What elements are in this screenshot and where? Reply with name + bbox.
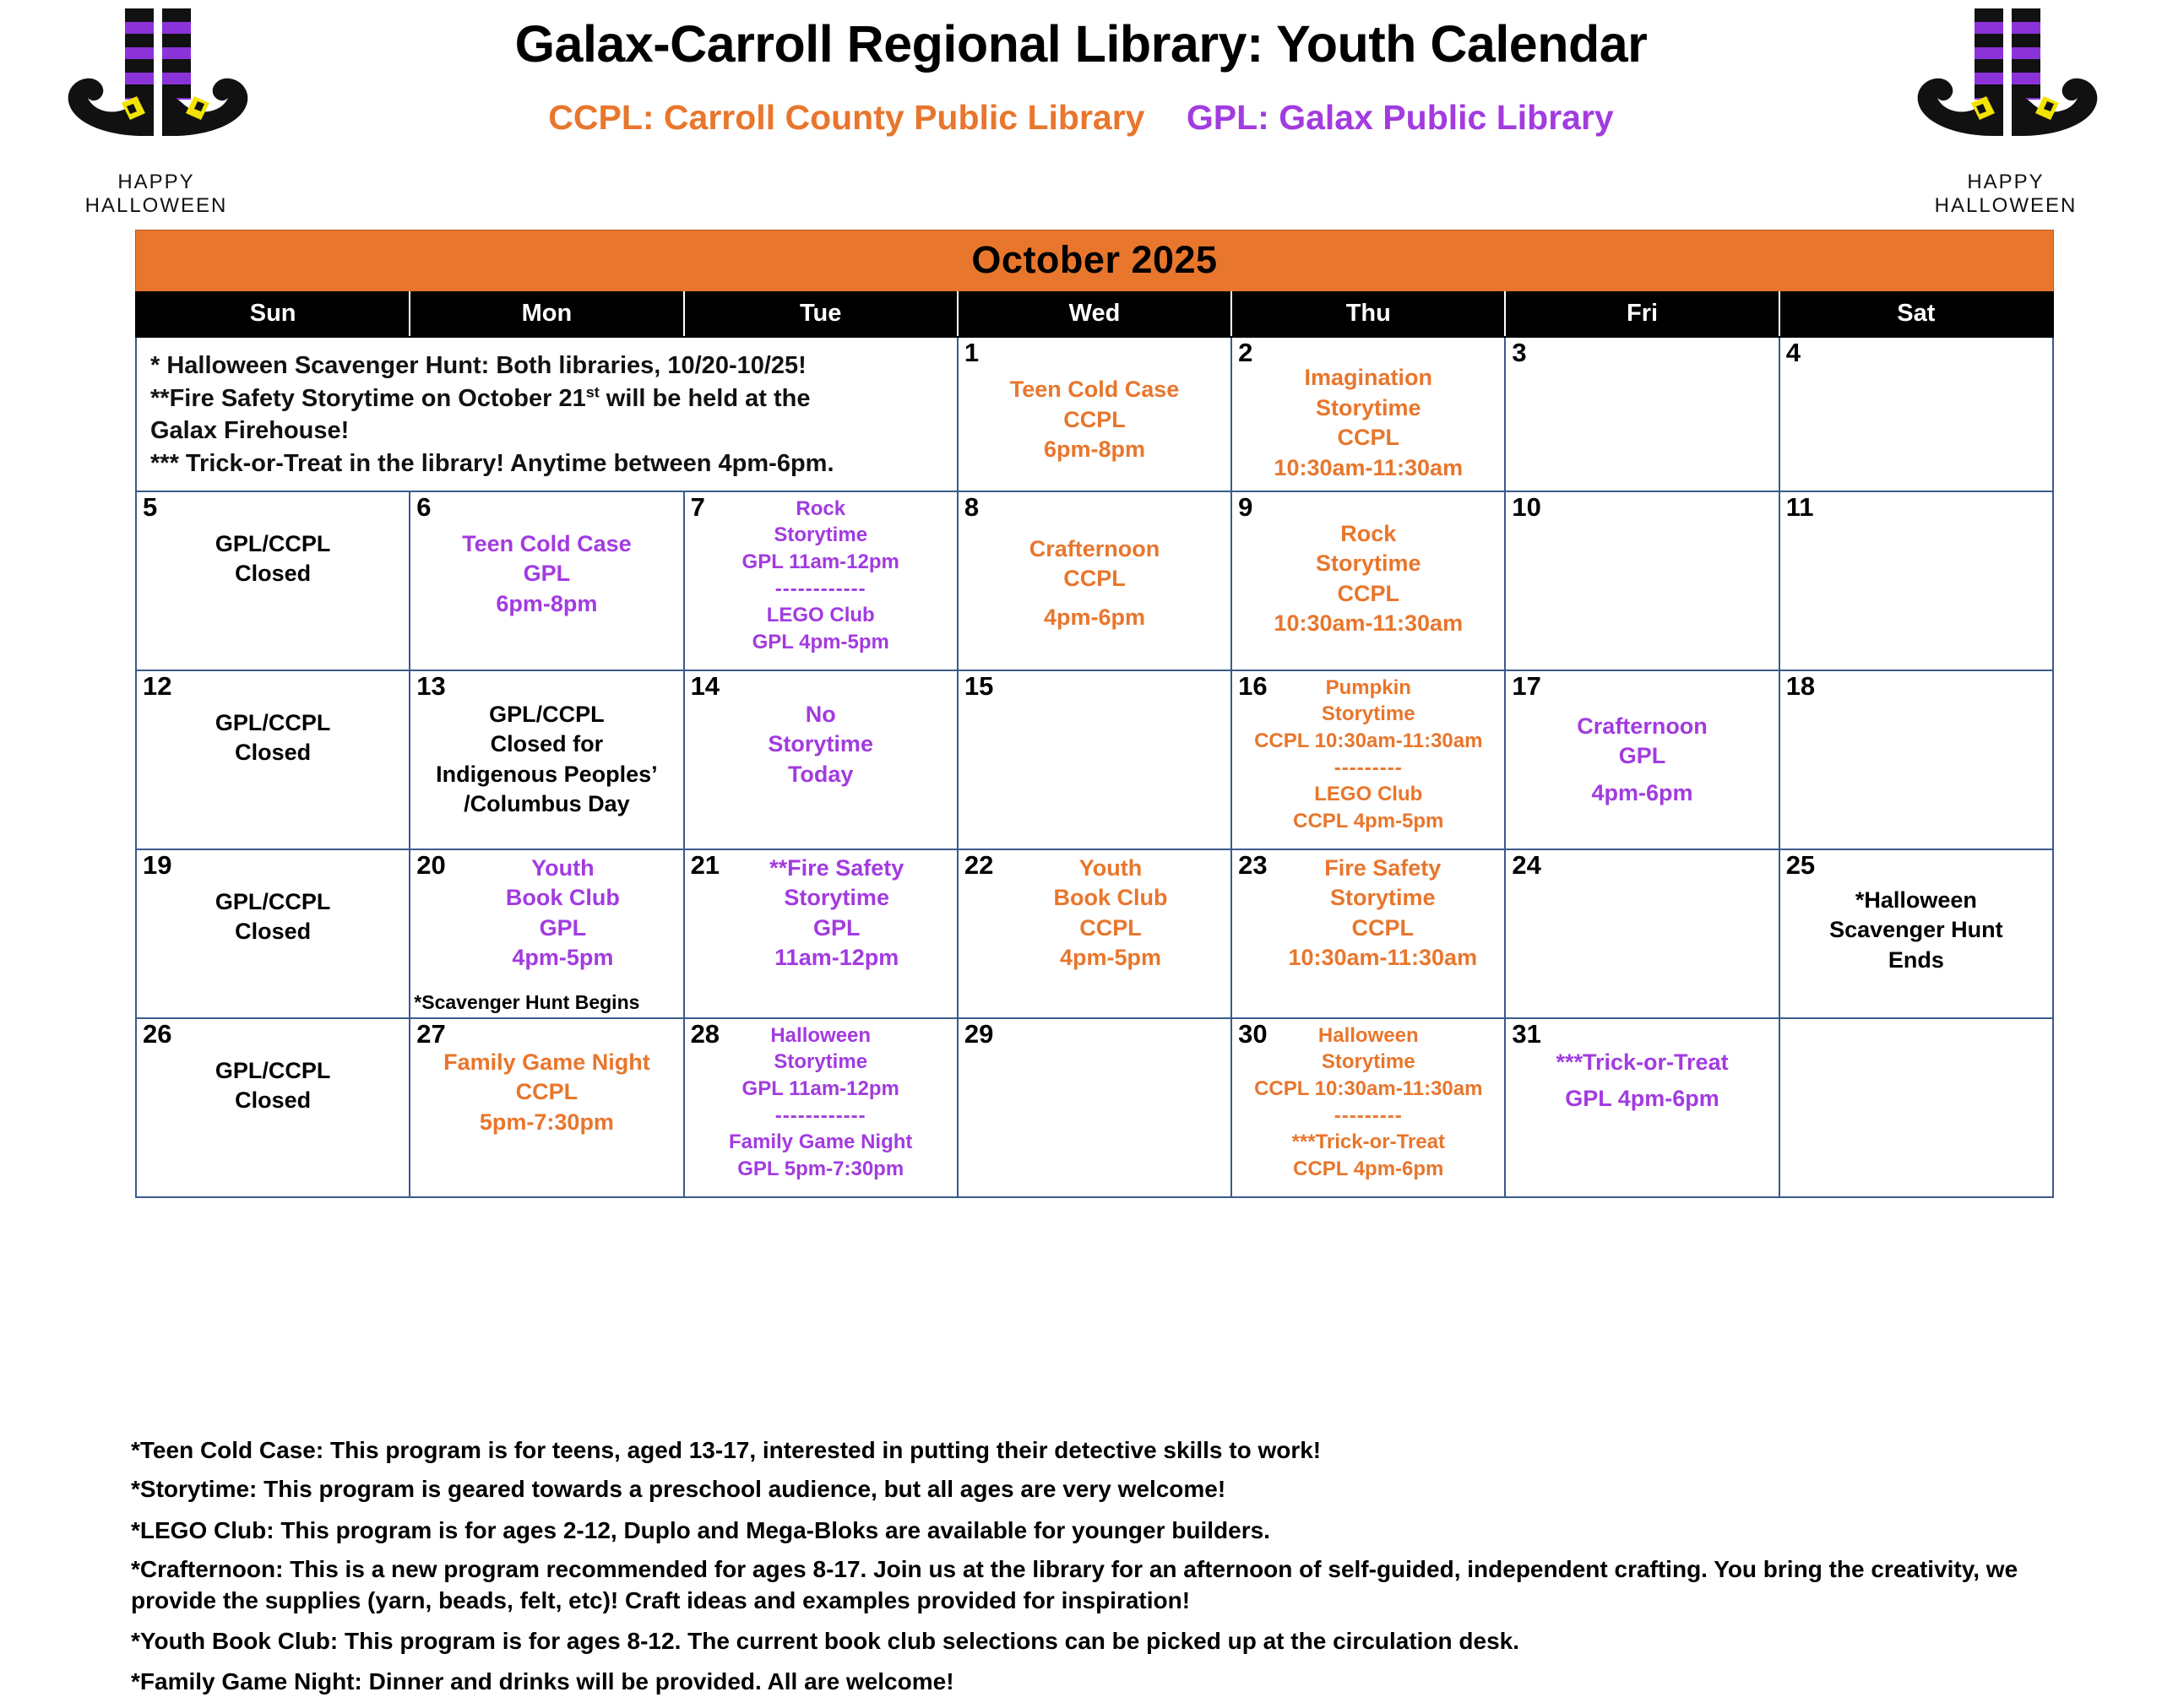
weekday-header-tue: Tue [684,292,958,337]
event-line: GPL [722,914,952,944]
day-cell-21[interactable]: 21 **Fire Safety Storytime GPL 11am-12pm [684,849,958,1018]
witch-legs-icon-right: HAPPY HALLOWEEN [1900,5,2111,203]
event-line: 10:30am-11:30am [1237,453,1499,484]
event-line: Storytime [690,729,952,760]
day-cell-29[interactable]: 29 [958,1018,1231,1197]
day-cell-7[interactable]: 7 Rock Storytime GPL 11am-12pm ---------… [684,491,958,670]
scavenger-hunt-note: *Scavenger Hunt Begins [414,991,679,1014]
calendar-page: HAPPY HALLOWEEN Galax-Carroll Regional L… [0,0,2162,1670]
day-number-13: 13 [416,673,445,699]
footnote-youth-book-club: *Youth Book Club: This program is for ag… [131,1626,2065,1656]
event-line: Closed for [416,729,677,760]
calendar-week-row-2: 5 GPL/CCPL Closed 6 Teen Cold Case GPL 6… [136,491,2053,670]
event-line: Imagination [1237,363,1499,393]
event-line: Halloween [1237,1022,1499,1049]
witch-legs-icon-left: HAPPY HALLOWEEN [51,5,262,203]
day-number-31: 31 [1512,1021,1540,1047]
calendar-week-row-1: * Halloween Scavenger Hunt: Both librari… [136,337,2053,491]
event-line: GPL [416,559,677,589]
event-line: GPL/CCPL [416,700,677,730]
event-line: Rock [1237,519,1499,550]
weekday-header-sun: Sun [136,292,410,337]
event-line: Crafternoon [1511,712,1773,742]
event-line: GPL 4pm-5pm [690,629,952,656]
day-cell-22[interactable]: 22 Youth Book Club CCPL 4pm-5pm [958,849,1231,1018]
event-line: *Halloween [1785,886,2047,916]
event-line: Indigenous Peoples’ [416,760,677,790]
day-cell-26[interactable]: 26 GPL/CCPL Closed [136,1018,410,1197]
legend-ccpl: CCPL: Carroll County Public Library [548,98,1144,137]
day-cell-17[interactable]: 17 Crafternoon GPL 4pm-6pm [1505,670,1779,849]
event-line: GPL 5pm-7:30pm [690,1156,952,1183]
page-title: Galax-Carroll Regional Library: Youth Ca… [262,15,1900,73]
footnote-teen-cold-case: *Teen Cold Case: This program is for tee… [131,1435,2065,1466]
event-line: CCPL 4pm-5pm [1237,808,1499,835]
event-line: GPL/CCPL [142,1056,404,1087]
day-number-16: 16 [1238,673,1267,699]
event-line: Storytime [690,1049,952,1076]
day-cell-15[interactable]: 15 [958,670,1231,849]
day-cell-8[interactable]: 8 Crafternoon CCPL 4pm-6pm [958,491,1231,670]
day-number-21: 21 [691,852,720,878]
day-number-26: 26 [143,1021,171,1047]
event-line: CCPL [996,914,1225,944]
event-line: LEGO Club [1237,781,1499,808]
event-line: Storytime [1237,549,1499,579]
calendar-week-row-4: 19 GPL/CCPL Closed 20 Youth Book Club GP… [136,849,2053,1018]
day-cell-5[interactable]: 5 GPL/CCPL Closed [136,491,410,670]
event-line: CCPL 4pm-6pm [1237,1156,1499,1183]
day-cell-25[interactable]: 25 *Halloween Scavenger Hunt Ends [1779,849,2053,1018]
day-number-18: 18 [1786,673,1815,699]
event-line: Youth [996,854,1225,884]
day-number-7: 7 [691,494,705,520]
event-line: Teen Cold Case [964,375,1225,405]
day-number-8: 8 [964,494,979,520]
calendar-container: October 2025 Sun Mon Tue Wed Thu Fri Sat [135,230,2054,1198]
footnotes-section: *Teen Cold Case: This program is for tee… [131,1435,2065,1708]
notice-line-1: * Halloween Scavenger Hunt: Both librari… [150,350,943,382]
event-line: Storytime [1266,883,1499,914]
event-line: GPL/CCPL [142,887,404,918]
event-line: 10:30am-11:30am [1237,609,1499,639]
footnote-storytime: *Storytime: This program is geared towar… [131,1474,2065,1505]
day-number-4: 4 [1786,339,1801,366]
event-separator: --------- [1237,755,1499,782]
day-cell-24[interactable]: 24 [1505,849,1779,1018]
event-line: CCPL [416,1077,677,1108]
event-line: Storytime [1237,393,1499,424]
day-cell-30[interactable]: 30 Halloween Storytime CCPL 10:30am-11:3… [1231,1018,1505,1197]
event-line: Rock [690,496,952,523]
event-line: 6pm-8pm [416,589,677,620]
notice-line-2-sup: st [586,383,600,400]
day-cell-10[interactable]: 10 [1505,491,1779,670]
notice-line-3: Galax Firehouse! [150,415,943,447]
day-cell-31[interactable]: 31 ***Trick-or-Treat GPL 4pm-6pm [1505,1018,1779,1197]
event-line: GPL 11am-12pm [690,1076,952,1103]
calendar-week-row-3: 12 GPL/CCPL Closed 13 GPL/CCPL Closed fo… [136,670,2053,849]
event-line: 10:30am-11:30am [1266,943,1499,973]
event-line: Today [690,760,952,790]
event-line: Crafternoon [964,534,1225,565]
event-line: 5pm-7:30pm [416,1108,677,1138]
event-line: Fire Safety [1266,854,1499,884]
event-line: GPL [448,914,677,944]
day-cell-13[interactable]: 13 GPL/CCPL Closed for Indigenous People… [410,670,683,849]
day-number-29: 29 [964,1021,993,1047]
day-cell-12[interactable]: 12 GPL/CCPL Closed [136,670,410,849]
footnote-lego-club: *LEGO Club: This program is for ages 2-1… [131,1516,2065,1546]
event-line: Ends [1785,946,2047,976]
event-line: CCPL [1237,579,1499,610]
event-line: 4pm-6pm [964,603,1225,633]
day-cell-6[interactable]: 6 Teen Cold Case GPL 6pm-8pm [410,491,683,670]
header-text-block: Galax-Carroll Regional Library: Youth Ca… [262,0,1900,138]
event-line: Closed [142,917,404,947]
event-line: Pumpkin [1237,675,1499,702]
calendar-table: Sun Mon Tue Wed Thu Fri Sat * Halloween … [135,291,2054,1198]
event-line: GPL 4pm-6pm [1511,1084,1773,1114]
day-cell-23[interactable]: 23 Fire Safety Storytime CCPL 10:30am-11… [1231,849,1505,1018]
footnote-crafternoon: *Crafternoon: This is a new program reco… [131,1554,2065,1616]
weekday-header-sat: Sat [1779,292,2053,337]
event-line: Youth [448,854,677,884]
day-number-11: 11 [1786,494,1814,520]
event-line: Storytime [722,883,952,914]
day-cell-9[interactable]: 9 Rock Storytime CCPL 10:30am-11:30am [1231,491,1505,670]
notice-line-2: **Fire Safety Storytime on October 21st … [150,382,943,415]
notice-cell: * Halloween Scavenger Hunt: Both librari… [136,337,958,491]
event-line: CCPL [1237,423,1499,453]
day-number-17: 17 [1512,673,1540,699]
day-number-12: 12 [143,673,171,699]
event-line: **Fire Safety [722,854,952,884]
day-cell-11[interactable]: 11 [1779,491,2053,670]
weekday-header-wed: Wed [958,292,1231,337]
day-cell-1[interactable]: 1 Teen Cold Case CCPL 6pm-8pm [958,337,1231,491]
event-line: 6pm-8pm [964,435,1225,465]
day-number-9: 9 [1238,494,1252,520]
event-line: 4pm-5pm [448,943,677,973]
day-cell-18[interactable]: 18 [1779,670,2053,849]
event-line: GPL/CCPL [142,529,404,560]
event-line: GPL/CCPL [142,708,404,739]
day-number-25: 25 [1786,852,1815,878]
event-line: 4pm-6pm [1511,778,1773,809]
day-number-14: 14 [691,673,720,699]
day-cell-3[interactable]: 3 [1505,337,1779,491]
legend-gpl: GPL: Galax Public Library [1187,98,1614,137]
day-number-30: 30 [1238,1021,1267,1047]
event-separator: --------- [1237,1103,1499,1130]
weekday-header-mon: Mon [410,292,683,337]
day-number-20: 20 [416,852,445,878]
event-line: ***Trick-or-Treat [1237,1129,1499,1156]
day-number-6: 6 [416,494,431,520]
witch-caption-left: HAPPY HALLOWEEN [51,171,262,218]
day-number-23: 23 [1238,852,1267,878]
notice-line-4: *** Trick-or-Treat in the library! Anyti… [150,447,943,480]
event-line: Storytime [1237,1049,1499,1076]
day-cell-16[interactable]: 16 Pumpkin Storytime CCPL 10:30am-11:30a… [1231,670,1505,849]
event-line: CCPL [964,405,1225,436]
month-title: October 2025 [135,230,2054,291]
event-line: Storytime [690,522,952,549]
event-line: Family Game Night [690,1129,952,1156]
day-number-3: 3 [1512,339,1526,366]
event-line: GPL 11am-12pm [690,549,952,576]
event-line: Closed [142,1086,404,1116]
event-line: Halloween [690,1022,952,1049]
day-number-1: 1 [964,339,979,366]
day-number-28: 28 [691,1021,720,1047]
weekday-header-row: Sun Mon Tue Wed Thu Fri Sat [136,292,2053,337]
weekday-header-fri: Fri [1505,292,1779,337]
day-cell-2[interactable]: 2 Imagination Storytime CCPL 10:30am-11:… [1231,337,1505,491]
event-line: Scavenger Hunt [1785,915,2047,946]
day-number-10: 10 [1512,494,1540,520]
notice-line-2a: **Fire Safety Storytime on October 21 [150,385,586,412]
day-number-15: 15 [964,673,993,699]
library-legend: CCPL: Carroll County Public Library GPL:… [262,98,1900,138]
day-cell-4[interactable]: 4 [1779,337,2053,491]
event-line: LEGO Club [690,602,952,629]
event-line: Closed [142,738,404,768]
event-line: Book Club [996,883,1225,914]
day-number-22: 22 [964,852,993,878]
event-line: CCPL 10:30am-11:30am [1237,728,1499,755]
event-line: ***Trick-or-Treat [1511,1048,1773,1078]
event-line: Closed [142,559,404,589]
day-cell-19[interactable]: 19 GPL/CCPL Closed [136,849,410,1018]
event-line: 11am-12pm [722,943,952,973]
event-line: /Columbus Day [416,789,677,820]
day-cell-20[interactable]: 20 Youth Book Club GPL 4pm-5pm *Scavenge… [410,849,683,1018]
event-line: No [690,700,952,730]
event-line: 4pm-5pm [996,943,1225,973]
day-number-27: 27 [416,1021,445,1047]
event-line: CCPL [1266,914,1499,944]
event-line: CCPL 10:30am-11:30am [1237,1076,1499,1103]
witch-caption-right: HAPPY HALLOWEEN [1900,171,2111,218]
empty-filler-cell [1779,1018,2053,1197]
day-number-5: 5 [143,494,157,520]
footnote-family-game-night: *Family Game Night: Dinner and drinks wi… [131,1667,2065,1697]
event-line: CCPL [964,564,1225,594]
day-number-2: 2 [1238,339,1252,366]
weekday-header-thu: Thu [1231,292,1505,337]
event-line: Family Game Night [416,1048,677,1078]
day-number-24: 24 [1512,852,1540,878]
event-line: Teen Cold Case [416,529,677,560]
event-separator: ------------ [690,576,952,603]
page-header: HAPPY HALLOWEEN Galax-Carroll Regional L… [0,0,2162,226]
day-cell-27[interactable]: 27 Family Game Night CCPL 5pm-7:30pm [410,1018,683,1197]
event-line: Book Club [448,883,677,914]
day-cell-28[interactable]: 28 Halloween Storytime GPL 11am-12pm ---… [684,1018,958,1197]
event-separator: ------------ [690,1103,952,1130]
day-cell-14[interactable]: 14 No Storytime Today [684,670,958,849]
event-line: Storytime [1237,701,1499,728]
notice-line-2b: will be held at the [600,385,811,412]
event-line: GPL [1511,741,1773,772]
day-number-19: 19 [143,852,171,878]
calendar-week-row-5: 26 GPL/CCPL Closed 27 Family Game Night … [136,1018,2053,1197]
